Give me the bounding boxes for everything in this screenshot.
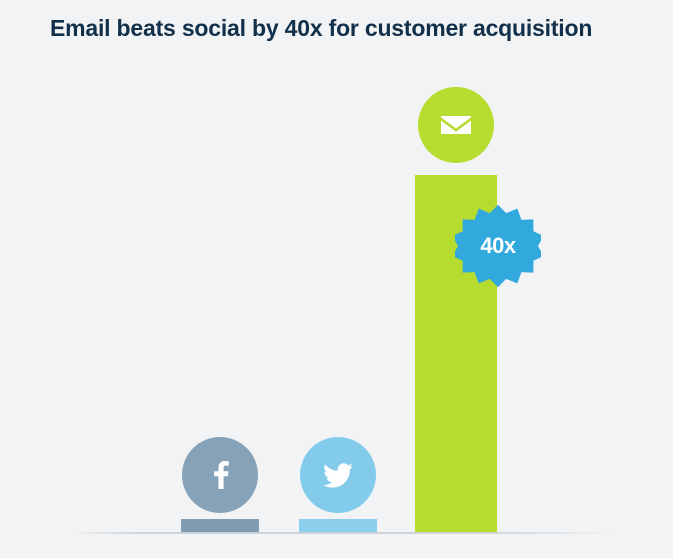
chart-baseline [78, 532, 610, 534]
email-icon-circle [418, 87, 494, 163]
multiplier-badge-label: 40x [455, 203, 541, 289]
facebook-icon-circle [182, 437, 258, 513]
chart-title: Email beats social by 40x for customer a… [50, 15, 592, 42]
multiplier-badge: 40x [455, 203, 541, 289]
bar-twitter [299, 519, 377, 533]
twitter-icon-circle [300, 437, 376, 513]
twitter-icon [316, 453, 360, 497]
bar-facebook [181, 519, 259, 533]
envelope-icon [436, 105, 476, 145]
infographic-canvas: Email beats social by 40x for customer a… [0, 0, 673, 558]
facebook-icon [198, 453, 242, 497]
